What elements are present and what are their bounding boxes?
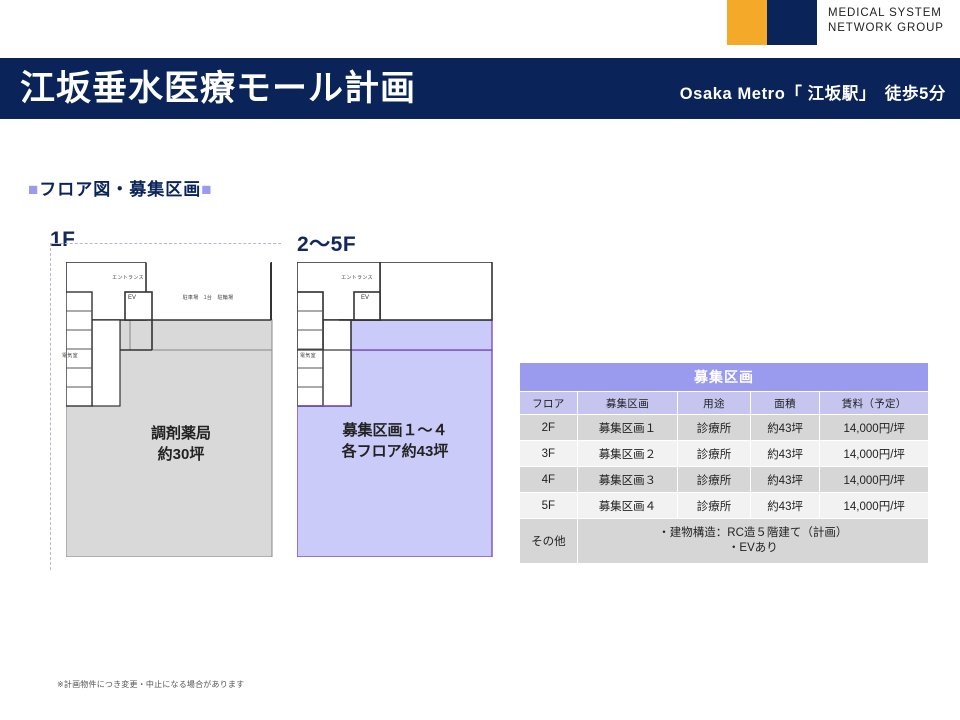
cell-area: 約43坪 [750,493,820,519]
section-heading-label: フロア図・募集区画 [39,180,201,199]
floorplan-2f5f-ev-label: EV [355,295,375,301]
cell-rent: 14,000円/坪 [820,441,929,467]
cell-floor: 4F [520,467,578,493]
floorplan-2f5f-entrance-label: エントランス [327,274,387,281]
floorplan-1f-center-label: 調剤薬局 約30坪 [86,423,276,465]
requirements-table-wrap: 募集区画 フロア 募集区画 用途 面積 賃料（予定） 2F 募集区画１ 診療所 … [519,362,929,564]
logo-strip: MEDICAL SYSTEM NETWORK GROUP [0,0,960,58]
floorplan-1f-electric-room-label: 電気室 [62,352,92,359]
cell-use: 診療所 [678,493,751,519]
logo-orange-block [727,0,767,45]
table-title: 募集区画 [520,363,929,392]
table-row: 2F 募集区画１ 診療所 約43坪 14,000円/坪 [520,415,929,441]
cell-zone: 募集区画２ [577,441,677,467]
table-row: 3F 募集区画２ 診療所 約43坪 14,000円/坪 [520,441,929,467]
logo-navy-block [767,0,817,45]
table-col-floor: フロア [520,392,578,415]
cell-other-label: その他 [520,519,578,564]
logo-wordmark-line1: MEDICAL SYSTEM [828,6,952,21]
cell-zone: 募集区画３ [577,467,677,493]
cell-use: 診療所 [678,441,751,467]
square-marker-right-icon: ■ [201,180,212,199]
square-marker-left-icon: ■ [28,180,39,199]
page-title: 江坂垂水医療モール計画 [20,66,416,111]
footnote: ※計画物件につき変更・中止になる場合があります [57,679,244,690]
cell-floor: 2F [520,415,578,441]
cell-rent: 14,000円/坪 [820,415,929,441]
cell-area: 約43坪 [750,441,820,467]
floorplan-2f5f-drawing [297,262,502,557]
logo-wordmark-line2: NETWORK GROUP [828,21,952,36]
table-title-row: 募集区画 [520,363,929,392]
table-col-use: 用途 [678,392,751,415]
table-other-row: その他 ・建物構造：RC造５階建て（計画） ・EVあり [520,519,929,564]
table-col-rent: 賃料（予定） [820,392,929,415]
floorplan-2f5f-center-label: 募集区画１～４ 各フロア約43坪 [300,420,490,462]
cell-zone: 募集区画１ [577,415,677,441]
table-col-area: 面積 [750,392,820,415]
cell-rent: 14,000円/坪 [820,493,929,519]
logo-wordmark: MEDICAL SYSTEM NETWORK GROUP [828,6,952,36]
access-info: Osaka Metro「 江坂駅」 徒歩5分 [680,80,946,104]
cell-rent: 14,000円/坪 [820,467,929,493]
table-row: 5F 募集区画４ 診療所 約43坪 14,000円/坪 [520,493,929,519]
table-header-row: フロア 募集区画 用途 面積 賃料（予定） [520,392,929,415]
floorplan-1f-ev-label: EV [122,295,142,301]
cell-zone: 募集区画４ [577,493,677,519]
cell-floor: 3F [520,441,578,467]
cell-floor: 5F [520,493,578,519]
section-heading: ■フロア図・募集区画■ [28,175,213,200]
table-col-zone: 募集区画 [577,392,677,415]
cell-use: 診療所 [678,467,751,493]
floorplan-1f-entrance-label: エントランス [98,274,158,281]
title-band: 江坂垂水医療モール計画 Osaka Metro「 江坂駅」 徒歩5分 [0,58,960,119]
requirements-table: 募集区画 フロア 募集区画 用途 面積 賃料（予定） 2F 募集区画１ 診療所 … [519,362,929,564]
floorplan-2f5f-electric-room-label: 電気室 [300,352,330,359]
cell-other-text: ・建物構造：RC造５階建て（計画） ・EVあり [577,519,928,564]
cell-use: 診療所 [678,415,751,441]
floorplan-1f-parking-label: 駐車場 1台 駐輪場 [160,294,256,301]
cell-area: 約43坪 [750,415,820,441]
cell-area: 約43坪 [750,467,820,493]
table-row: 4F 募集区画３ 診療所 約43坪 14,000円/坪 [520,467,929,493]
floor-label-2f-5f: 2〜5F [297,228,356,258]
floorplan-1f-drawing [66,262,286,557]
